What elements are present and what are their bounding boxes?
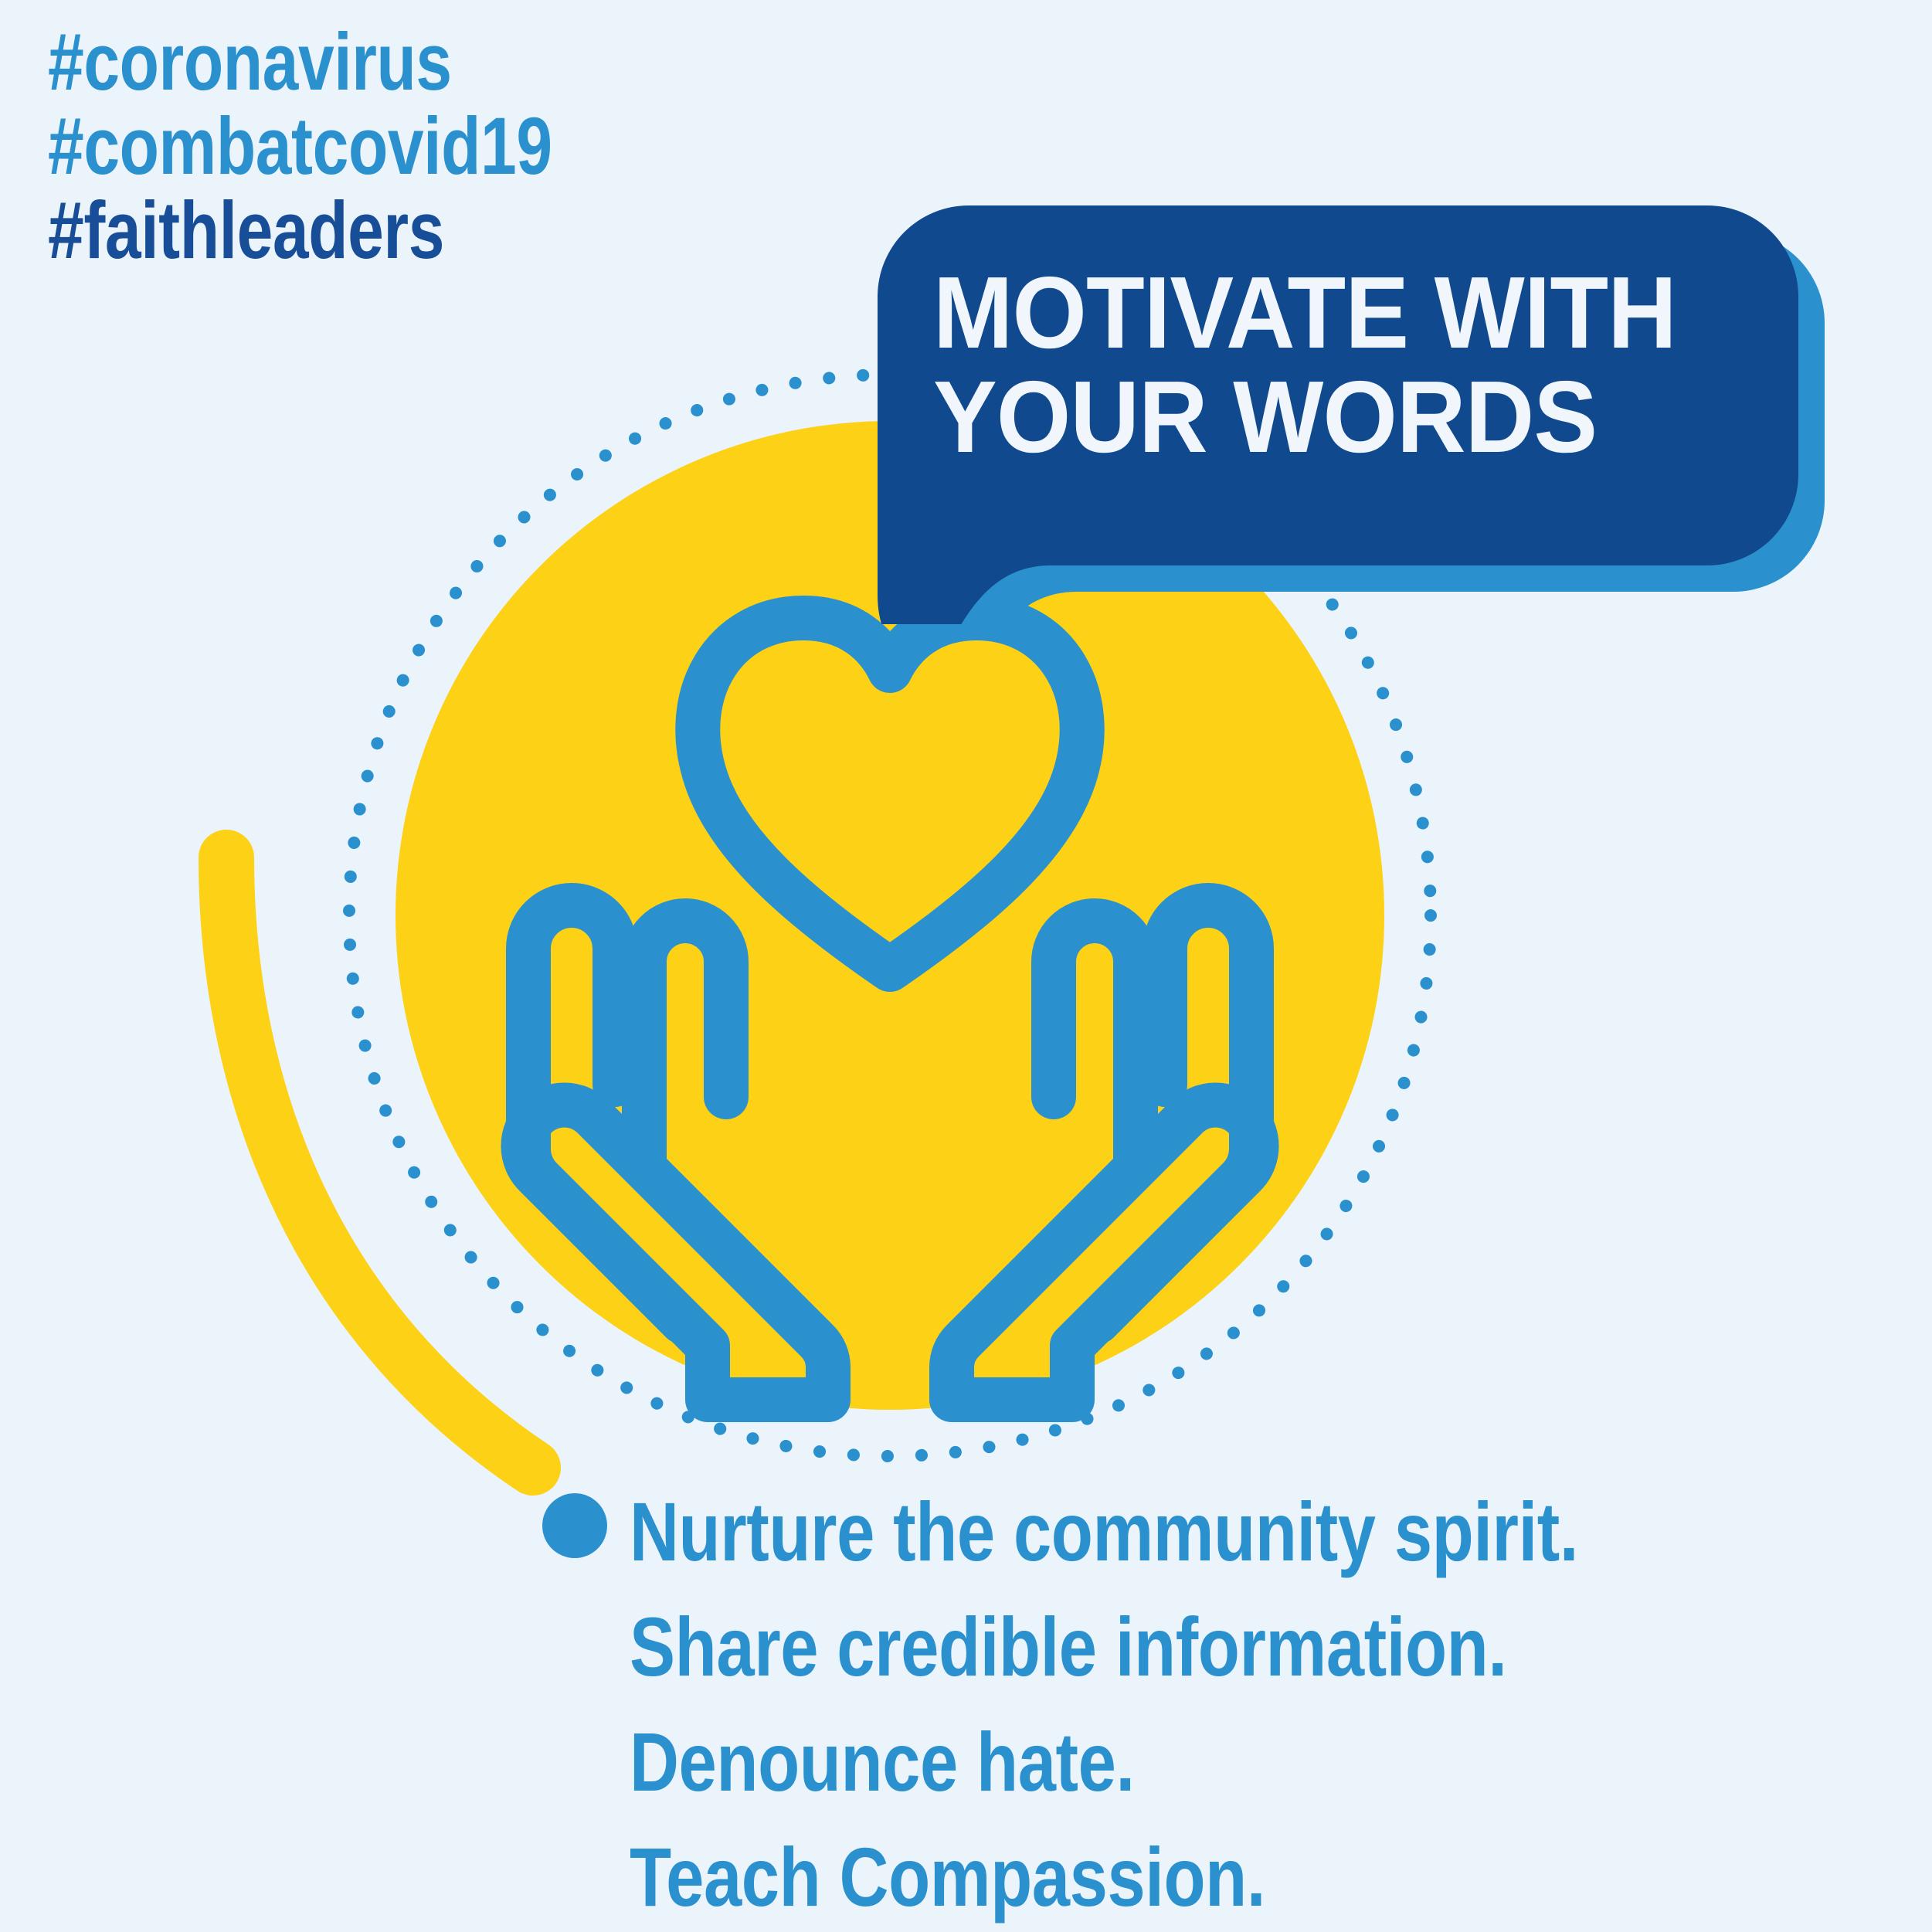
hashtag-faithleaders: #faithleaders [48,192,552,271]
speech-bubble: MOTIVATE WITH YOUR WORDS [850,192,1831,624]
speech-bubble-line-2: YOUR WORDS [933,365,1747,470]
hashtag-coronavirus: #coronavirus [48,23,552,103]
speech-bubble-text: MOTIVATE WITH YOUR WORDS [933,261,1747,469]
message-line-denounce: Denounce hate. [630,1704,1578,1819]
message-line-nurture: Nurture the community spirit. [630,1474,1578,1589]
hashtag-combatcovid19: #combatcovid19 [48,107,552,187]
message-line-share: Share credible information. [630,1589,1578,1704]
speech-bubble-line-1: MOTIVATE WITH [933,261,1747,365]
message-line-teach: Teach Compassion. [630,1819,1578,1932]
poster-canvas: #coronavirus #combatcovid19 #faithleader… [0,0,1932,1932]
hashtag-group: #coronavirus #combatcovid19 #faithleader… [48,23,678,276]
bullet-dot-icon [542,1493,607,1558]
message-list: Nurture the community spirit. Share cred… [630,1474,1787,1932]
